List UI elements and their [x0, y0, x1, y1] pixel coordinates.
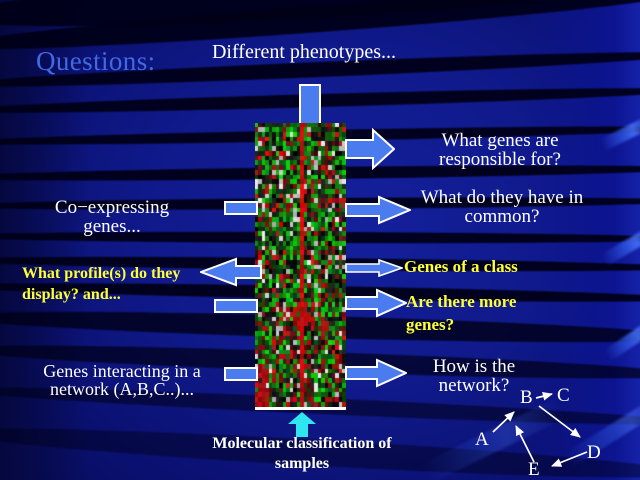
label-what-common: What do they have in common?: [404, 188, 600, 227]
label-what-profiles: What profile(s) do they display? and...: [22, 263, 212, 305]
gene-network-diagram: A B C D E: [470, 386, 640, 480]
what-common-arrow: [345, 195, 411, 225]
network-edges: [470, 386, 640, 480]
network-edge-b-d: [539, 406, 580, 437]
label-genes-interacting: Genes interacting in a network (A,B,C..)…: [22, 362, 222, 399]
slide-canvas: Questions: Different phenotypes... Co−ex…: [0, 0, 640, 480]
network-edge-b-c: [536, 394, 552, 398]
network-node-a: A: [475, 430, 489, 449]
network-node-c: C: [557, 386, 570, 405]
how-network-arrow: [345, 358, 407, 388]
co-expressing-bar: [224, 201, 258, 215]
label-what-genes-responsible: What genes are responsible for?: [404, 131, 596, 170]
label-different-phenotypes: Different phenotypes...: [196, 42, 412, 62]
network-bar: [224, 367, 258, 381]
what-genes-arrow: [345, 128, 395, 170]
microarray-heatmap: [255, 123, 346, 410]
bar-3: [214, 299, 258, 313]
network-node-b: B: [520, 388, 533, 407]
label-co-expressing-genes: Co−expressing genes...: [34, 198, 190, 237]
label-genes-of-a-class: Genes of a class: [404, 258, 594, 275]
network-node-d: D: [587, 443, 601, 462]
page-title: Questions:: [36, 46, 156, 77]
caption-molecular-classification: Molecular classification of samples: [192, 434, 412, 474]
phenotypes-connector: [299, 84, 321, 125]
heatmap-canvas: [255, 123, 346, 407]
network-edge-d-e: [552, 452, 587, 466]
network-edge-a-b: [493, 412, 514, 432]
label-are-there-more-genes: Are there more genes?: [406, 290, 588, 336]
genes-class-arrow: [345, 259, 403, 277]
network-node-e: E: [528, 460, 540, 479]
network-edge-e-b: [516, 426, 534, 462]
more-genes-arrow: [345, 288, 407, 318]
